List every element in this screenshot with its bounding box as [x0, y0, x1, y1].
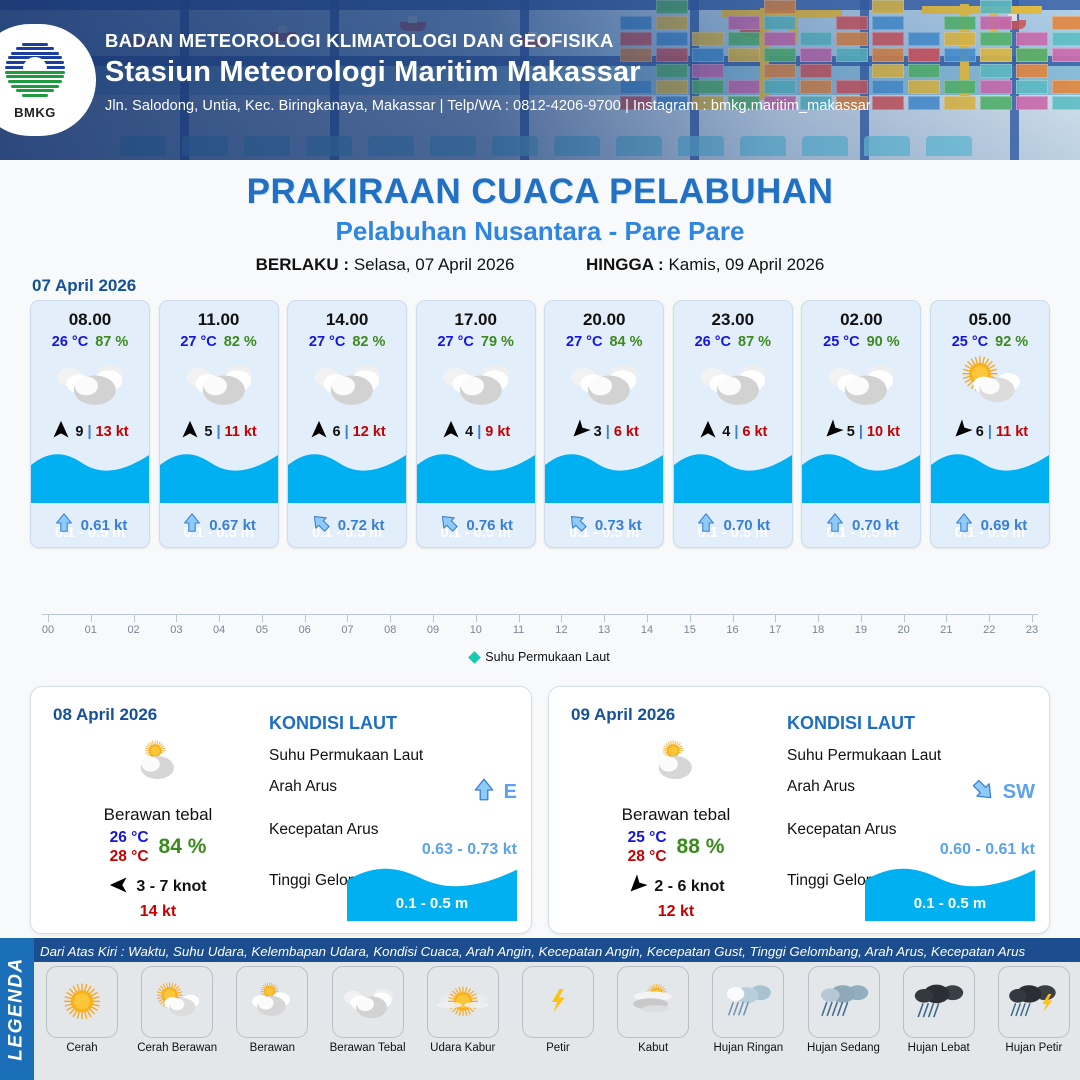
- legend-item-label: Cerah Berawan: [133, 1042, 221, 1054]
- wind-direction-arrow-icon: [952, 420, 972, 444]
- kabut-icon: [617, 966, 689, 1038]
- hujan-lebat-icon: [903, 966, 975, 1038]
- current-speed-label: Kecepatan Arus: [269, 821, 517, 839]
- card-current-row: 0.67 kt: [160, 503, 278, 547]
- logo-band: [8, 80, 62, 83]
- sst-label: Suhu Permukaan Laut: [269, 747, 517, 765]
- chart-tick: [775, 614, 776, 622]
- chart-tick-label: 12: [555, 624, 567, 636]
- card-gust: 12 kt: [353, 424, 386, 440]
- berawan-icon: [53, 733, 263, 793]
- card-gust: 13 kt: [96, 424, 129, 440]
- daily-forecast-card: 08 April 2026Berawan tebal26 °C28 °C84 %…: [30, 686, 532, 934]
- chart-tick-label: 11: [513, 624, 524, 636]
- chart-tick-label: 09: [427, 624, 439, 636]
- chart-tick-label: 05: [256, 624, 268, 636]
- chart-tick-label: 16: [726, 624, 738, 636]
- daily-temp-humidity: 26 °C28 °C84 %: [53, 828, 263, 867]
- card-wind-speed: 4: [722, 424, 730, 440]
- chart-tick: [818, 614, 819, 622]
- chart-tick: [91, 614, 92, 622]
- wind-direction-arrow-icon: [180, 420, 200, 444]
- logo-band: [16, 89, 54, 92]
- daily-date: 08 April 2026: [53, 705, 157, 725]
- card-separator: |: [606, 424, 610, 440]
- wave-graphic: [31, 447, 149, 503]
- current-direction-arrow-icon: [53, 512, 75, 538]
- card-current-row: 0.72 kt: [288, 503, 406, 547]
- current-direction-value: SW: [1003, 781, 1035, 804]
- card-current-row: 0.70 kt: [802, 503, 920, 547]
- legend-item: Petir: [514, 966, 602, 1054]
- chart-tick-label: 04: [213, 624, 225, 636]
- hourly-day-label: 07 April 2026: [32, 276, 136, 296]
- daily-forecast-card: 09 April 2026Berawan tebal25 °C28 °C88 %…: [548, 686, 1050, 934]
- legend-item: Hujan Ringan: [704, 966, 792, 1054]
- legend-item-label: Hujan Ringan: [704, 1042, 792, 1054]
- current-speed-label: Kecepatan Arus: [787, 821, 1035, 839]
- wave-graphic: [288, 447, 406, 503]
- card-wind-speed: 6: [333, 424, 341, 440]
- card-gust: 11 kt: [996, 424, 1028, 440]
- sst-legend-label: Suhu Permukaan Laut: [485, 650, 609, 664]
- berawan-tebal-icon: [802, 352, 920, 414]
- hourly-card: 02.0025 °C90 %5|10 kt0.1 - 0.5 m0.70 kt: [801, 300, 921, 548]
- legend-item: Cerah Berawan: [133, 966, 221, 1054]
- daily-temp-humidity: 25 °C28 °C88 %: [571, 828, 781, 867]
- chart-tick: [733, 614, 734, 622]
- daily-wind-row: 2 - 6 knot: [571, 875, 781, 900]
- card-wind-speed: 6: [976, 424, 984, 440]
- legend-items: CerahCerah BerawanBerawanBerawan TebalUd…: [38, 966, 1078, 1054]
- hourly-card: 23.0026 °C87 %4|6 kt0.1 - 0.5 m0.70 kt: [673, 300, 793, 548]
- daily-temps: 26 °C28 °C: [110, 828, 149, 867]
- valid-to-label: HINGGA :: [586, 255, 664, 274]
- chart-tick: [690, 614, 691, 622]
- legend-caption: Dari Atas Kiri : Waktu, Suhu Udara, Kele…: [40, 944, 1075, 959]
- daily-temp-min: 26 °C: [110, 828, 149, 847]
- agency-name: BADAN METEOROLOGI KLIMATOLOGI DAN GEOFIS…: [105, 30, 871, 52]
- wind-direction-arrow-icon: [570, 420, 590, 444]
- legend-item-label: Udara Kabur: [419, 1042, 507, 1054]
- current-direction-arrow-icon: [695, 512, 717, 538]
- card-current-speed: 0.70 kt: [723, 517, 770, 534]
- card-current-row: 0.76 kt: [417, 503, 535, 547]
- legend-item-label: Hujan Petir: [990, 1042, 1078, 1054]
- chart-tick-label: 01: [85, 624, 97, 636]
- card-current-row: 0.73 kt: [545, 503, 663, 547]
- card-current-speed: 0.72 kt: [338, 517, 385, 534]
- logo-band: [11, 85, 59, 88]
- card-time: 11.00: [160, 301, 278, 330]
- card-wind-speed: 5: [847, 424, 855, 440]
- chart-legend: Suhu Permukaan Laut: [30, 650, 1050, 664]
- card-time: 17.00: [417, 301, 535, 330]
- sea-conditions-title: KONDISI LAUT: [269, 713, 517, 734]
- chart-tick-label: 17: [769, 624, 781, 636]
- hourly-card: 11.0027 °C82 %5|11 kt0.1 - 0.5 m0.67 kt: [159, 300, 279, 548]
- card-time: 14.00: [288, 301, 406, 330]
- wind-direction-arrow-icon: [627, 875, 647, 900]
- udara-kabur-icon: [427, 966, 499, 1038]
- legend-section: LEGENDA Dari Atas Kiri : Waktu, Suhu Uda…: [0, 938, 1080, 1080]
- valid-from-value: Selasa, 07 April 2026: [354, 255, 515, 274]
- card-separator: |: [345, 424, 349, 440]
- chart-tick: [1032, 614, 1033, 622]
- daily-humidity: 84 %: [159, 835, 207, 859]
- legend-item-label: Hujan Sedang: [800, 1042, 888, 1054]
- chart-tick: [989, 614, 990, 622]
- card-current-speed: 0.70 kt: [852, 517, 899, 534]
- berawan-tebal-icon: [332, 966, 404, 1038]
- hujan-ringan-icon: [712, 966, 784, 1038]
- chart-tick: [390, 614, 391, 622]
- card-gust: 6 kt: [742, 424, 767, 440]
- daily-temps: 25 °C28 °C: [628, 828, 667, 867]
- sst-chart: 0001020304050607080910111213141516171819…: [30, 588, 1050, 668]
- logo-arc: [16, 47, 54, 50]
- card-separator: |: [216, 424, 220, 440]
- header-text-block: BADAN METEOROLOGI KLIMATOLOGI DAN GEOFIS…: [105, 30, 871, 114]
- chart-tick-label: 14: [641, 624, 653, 636]
- legend-item: Hujan Sedang: [800, 966, 888, 1054]
- page-header: BMKG BADAN METEOROLOGI KLIMATOLOGI DAN G…: [0, 0, 1080, 160]
- current-direction-arrow-icon: [438, 512, 460, 538]
- sea-conditions-title: KONDISI LAUT: [787, 713, 1035, 734]
- chart-x-axis: [42, 614, 1038, 615]
- berawan-tebal-icon: [160, 352, 278, 414]
- card-gust: 9 kt: [485, 424, 510, 440]
- daily-wave-graphic: 0.1 - 0.5 m: [347, 861, 517, 921]
- station-name: Stasiun Meteorologi Maritim Makassar: [105, 56, 871, 89]
- daily-temp-min: 25 °C: [628, 828, 667, 847]
- chart-tick: [48, 614, 49, 622]
- logo-green-bands: [4, 71, 66, 101]
- card-separator: |: [477, 424, 481, 440]
- card-time: 02.00: [802, 301, 920, 330]
- chart-tick: [561, 614, 562, 622]
- current-direction-arrow-icon: [567, 512, 589, 538]
- daily-humidity: 88 %: [677, 835, 725, 859]
- card-time: 05.00: [931, 301, 1049, 330]
- current-speed-value: 0.60 - 0.61 kt: [787, 841, 1035, 859]
- hourly-card: 08.0026 °C87 %9|13 kt0.1 - 0.5 m0.61 kt: [30, 300, 150, 548]
- legend-item: Berawan Tebal: [324, 966, 412, 1054]
- bmkg-logo-mark: [4, 41, 66, 103]
- berawan-tebal-icon: [288, 352, 406, 414]
- chart-tick-label: 19: [855, 624, 867, 636]
- legend-item: Udara Kabur: [419, 966, 507, 1054]
- page-subtitle: Pelabuhan Nusantara - Pare Pare: [0, 216, 1080, 247]
- logo-arc: [11, 52, 59, 55]
- chart-tick: [347, 614, 348, 622]
- cerah-icon: [46, 966, 118, 1038]
- berawan-tebal-icon: [545, 352, 663, 414]
- chart-tick: [305, 614, 306, 622]
- chart-tick: [861, 614, 862, 622]
- legend-item: Kabut: [609, 966, 697, 1054]
- chart-tick-label: 23: [1026, 624, 1038, 636]
- daily-condition: Berawan tebal: [53, 805, 263, 825]
- chart-tick-label: 20: [898, 624, 910, 636]
- card-gust: 6 kt: [614, 424, 639, 440]
- hourly-card: 05.0025 °C92 %6|11 kt0.1 - 0.5 m0.69 kt: [930, 300, 1050, 548]
- card-separator: |: [988, 424, 992, 440]
- chart-tick: [946, 614, 947, 622]
- card-wind-speed: 3: [594, 424, 602, 440]
- legend-item: Cerah: [38, 966, 126, 1054]
- chart-tick-label: 15: [684, 624, 696, 636]
- berawan-icon: [571, 733, 781, 793]
- current-speed-value: 0.63 - 0.73 kt: [269, 841, 517, 859]
- daily-wind-range: 3 - 7 knot: [136, 878, 206, 896]
- daily-gust: 14 kt: [53, 903, 263, 921]
- daily-date: 09 April 2026: [571, 705, 675, 725]
- legend-item: Hujan Petir: [990, 966, 1078, 1054]
- chart-tick: [219, 614, 220, 622]
- berawan-tebal-icon: [31, 352, 149, 414]
- legend-item-label: Berawan: [228, 1042, 316, 1054]
- daily-wave-height: 0.1 - 0.5 m: [347, 895, 517, 912]
- daily-temp-max: 28 °C: [628, 847, 667, 866]
- hujan-petir-icon: [998, 966, 1070, 1038]
- wave-graphic: [160, 447, 278, 503]
- card-separator: |: [87, 424, 91, 440]
- card-gust: 11 kt: [225, 424, 257, 440]
- card-time: 08.00: [31, 301, 149, 330]
- chart-tick-label: 18: [812, 624, 824, 636]
- card-current-speed: 0.69 kt: [981, 517, 1028, 534]
- sst-label: Suhu Permukaan Laut: [787, 747, 1035, 765]
- chart-tick: [134, 614, 135, 622]
- petir-icon: [522, 966, 594, 1038]
- current-direction-arrow-icon: [471, 777, 497, 808]
- daily-wave-height: 0.1 - 0.5 m: [865, 895, 1035, 912]
- chart-tick: [476, 614, 477, 622]
- daily-temp-max: 28 °C: [110, 847, 149, 866]
- daily-condition: Berawan tebal: [571, 805, 781, 825]
- chart-tick-label: 13: [598, 624, 610, 636]
- wave-graphic: [545, 447, 663, 503]
- title-block: PRAKIRAAN CUACA PELABUHAN Pelabuhan Nusa…: [0, 160, 1080, 275]
- chart-tick: [519, 614, 520, 622]
- card-separator: |: [859, 424, 863, 440]
- wind-direction-arrow-icon: [441, 420, 461, 444]
- card-current-speed: 0.61 kt: [81, 517, 128, 534]
- current-direction-arrow-icon: [181, 512, 203, 538]
- chart-tick: [433, 614, 434, 622]
- berawan-tebal-icon: [674, 352, 792, 414]
- valid-from-label: BERLAKU :: [256, 255, 350, 274]
- logo-text: BMKG: [14, 105, 56, 120]
- card-separator: |: [734, 424, 738, 440]
- wind-direction-arrow-icon: [109, 875, 129, 900]
- legend-item-label: Berawan Tebal: [324, 1042, 412, 1054]
- chart-tick-label: 00: [42, 624, 54, 636]
- wind-direction-arrow-icon: [51, 420, 71, 444]
- chart-tick-label: 03: [170, 624, 182, 636]
- legend-side-title-text: LEGENDA: [6, 957, 28, 1060]
- hujan-sedang-icon: [808, 966, 880, 1038]
- logo-band: [22, 94, 48, 97]
- card-current-row: 0.70 kt: [674, 503, 792, 547]
- hourly-card: 20.0027 °C84 %3|6 kt0.1 - 0.5 m0.73 kt: [544, 300, 664, 548]
- sst-legend-marker-icon: [468, 651, 481, 664]
- card-current-row: 0.61 kt: [31, 503, 149, 547]
- daily-wind-row: 3 - 7 knot: [53, 875, 263, 900]
- wave-graphic: [802, 447, 920, 503]
- current-direction-arrow-icon: [970, 777, 996, 808]
- hourly-forecast-row: 08.0026 °C87 %9|13 kt0.1 - 0.5 m0.61 kt1…: [30, 300, 1050, 548]
- chart-tick-label: 08: [384, 624, 396, 636]
- current-direction-arrow-icon: [953, 512, 975, 538]
- card-wind-speed: 4: [465, 424, 473, 440]
- cerah-berawan-icon: [931, 352, 1049, 414]
- logo-band: [5, 71, 65, 74]
- chart-tick-label: 21: [940, 624, 952, 636]
- daily-summary: Berawan tebal25 °C28 °C88 %2 - 6 knot12 …: [571, 733, 781, 921]
- legend-item-label: Kabut: [609, 1042, 697, 1054]
- wind-direction-arrow-icon: [823, 420, 843, 444]
- card-time: 20.00: [545, 301, 663, 330]
- card-wind-speed: 5: [204, 424, 212, 440]
- daily-gust: 12 kt: [571, 903, 781, 921]
- chart-tick-label: 06: [299, 624, 311, 636]
- chart-tick: [176, 614, 177, 622]
- chart-tick-label: 22: [983, 624, 995, 636]
- legend-item: Berawan: [228, 966, 316, 1054]
- chart-tick: [647, 614, 648, 622]
- logo-band: [6, 75, 64, 78]
- wave-graphic: [674, 447, 792, 503]
- card-current-row: 0.69 kt: [931, 503, 1049, 547]
- chart-tick-label: 02: [127, 624, 139, 636]
- berawan-tebal-icon: [417, 352, 535, 414]
- legend-item-label: Hujan Lebat: [895, 1042, 983, 1054]
- logo-blue-arcs: [4, 43, 66, 71]
- daily-wave-graphic: 0.1 - 0.5 m: [865, 861, 1035, 921]
- daily-summary: Berawan tebal26 °C28 °C84 %3 - 7 knot14 …: [53, 733, 263, 921]
- wind-direction-arrow-icon: [698, 420, 718, 444]
- card-current-speed: 0.67 kt: [209, 517, 256, 534]
- hourly-card: 14.0027 °C82 %6|12 kt0.1 - 0.5 m0.72 kt: [287, 300, 407, 548]
- logo-arc: [22, 43, 48, 46]
- legend-side-title: LEGENDA: [0, 938, 34, 1080]
- berawan-icon: [236, 966, 308, 1038]
- current-direction-arrow-icon: [310, 512, 332, 538]
- cerah-berawan-icon: [141, 966, 213, 1038]
- page-title: PRAKIRAAN CUACA PELABUHAN: [0, 172, 1080, 212]
- chart-tick-label: 07: [341, 624, 353, 636]
- wave-graphic: [931, 447, 1049, 503]
- current-direction-arrow-icon: [824, 512, 846, 538]
- hourly-card: 17.0027 °C79 %4|9 kt0.1 - 0.5 m0.76 kt: [416, 300, 536, 548]
- chart-tick: [904, 614, 905, 622]
- current-direction-value: E: [504, 781, 517, 804]
- valid-to-value: Kamis, 09 April 2026: [668, 255, 824, 274]
- chart-tick: [262, 614, 263, 622]
- card-gust: 10 kt: [867, 424, 900, 440]
- chart-tick: [604, 614, 605, 622]
- daily-forecast-panels: 08 April 2026Berawan tebal26 °C28 °C84 %…: [30, 686, 1050, 934]
- card-current-speed: 0.76 kt: [466, 517, 513, 534]
- daily-wind-range: 2 - 6 knot: [654, 878, 724, 896]
- contact-line: Jln. Salodong, Untia, Kec. Biringkanaya,…: [105, 98, 871, 114]
- wave-graphic: [417, 447, 535, 503]
- chart-tick-label: 10: [470, 624, 482, 636]
- card-current-speed: 0.73 kt: [595, 517, 642, 534]
- legend-item-label: Cerah: [38, 1042, 126, 1054]
- validity-line: BERLAKU : Selasa, 07 April 2026 HINGGA :…: [0, 255, 1080, 275]
- legend-item-label: Petir: [514, 1042, 602, 1054]
- card-time: 23.00: [674, 301, 792, 330]
- legend-item: Hujan Lebat: [895, 966, 983, 1054]
- wind-direction-arrow-icon: [309, 420, 329, 444]
- card-wind-speed: 9: [75, 424, 83, 440]
